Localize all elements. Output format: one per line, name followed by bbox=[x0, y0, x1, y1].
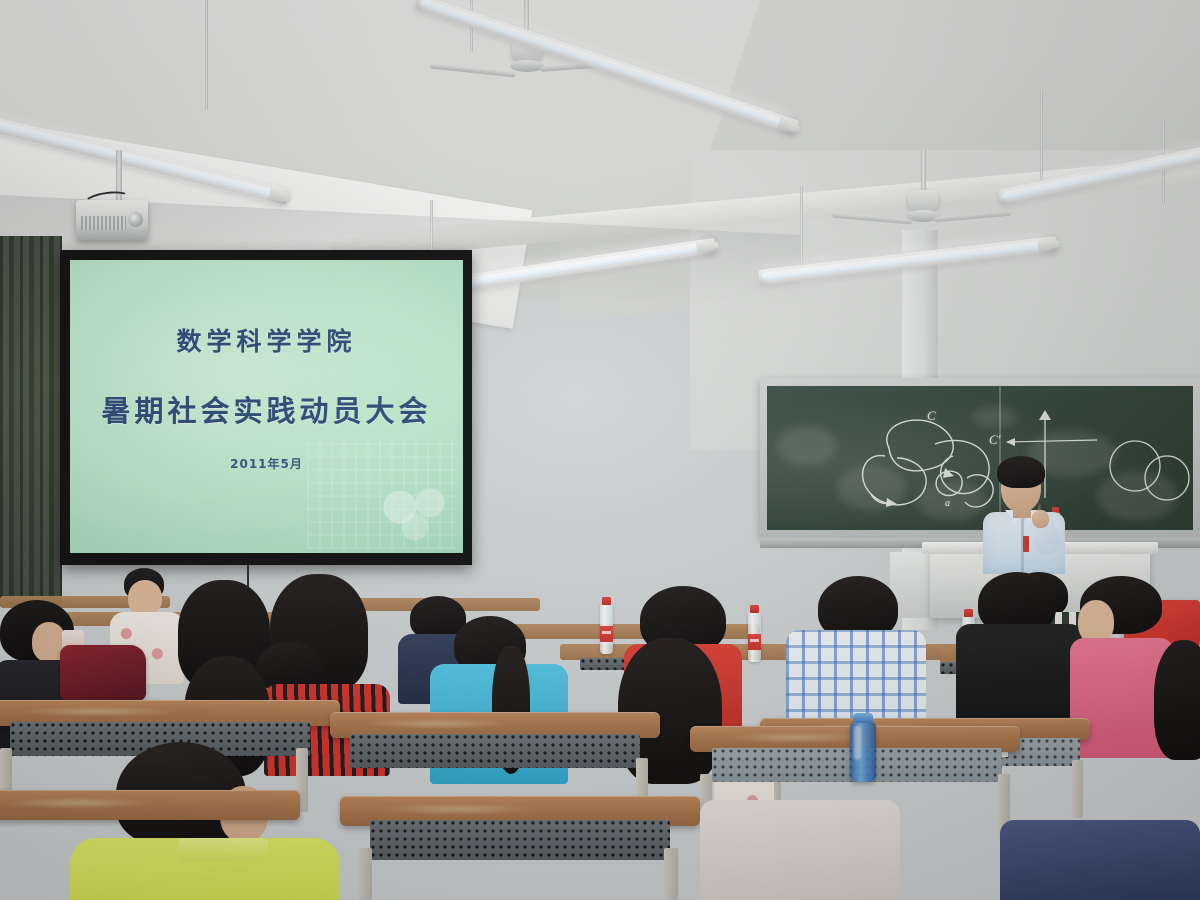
water-bottle bbox=[748, 612, 761, 662]
chalk-label-c: C bbox=[927, 408, 936, 424]
green-curtain bbox=[0, 236, 62, 606]
projection-screen-surface: 数学科学学院 暑期社会实践动员大会 2011年5月 bbox=[70, 260, 463, 553]
speaker-hair bbox=[997, 456, 1045, 488]
slide-title-line-1: 数学科学学院 bbox=[70, 322, 463, 358]
slide-title-line-2: 暑期社会实践动员大会 bbox=[70, 388, 463, 430]
maroon-bag bbox=[60, 645, 146, 701]
chalk-label-c-prime: C' bbox=[989, 432, 1000, 448]
lecture-hall-photo: 数学科学学院 暑期社会实践动员大会 2011年5月 bbox=[0, 0, 1200, 900]
blue-water-bottle bbox=[850, 722, 876, 782]
chalk-label-a: a bbox=[945, 498, 950, 509]
projection-screen: 数学科学学院 暑期社会实践动员大会 2011年5月 bbox=[60, 250, 472, 565]
speaker-presenter bbox=[975, 448, 1085, 558]
slide-date: 2011年5月 bbox=[70, 455, 463, 472]
slide-content: 数学科学学院 暑期社会实践动员大会 2011年5月 bbox=[70, 322, 463, 472]
water-bottle bbox=[600, 604, 613, 654]
speaker-lanyard bbox=[1023, 536, 1029, 552]
